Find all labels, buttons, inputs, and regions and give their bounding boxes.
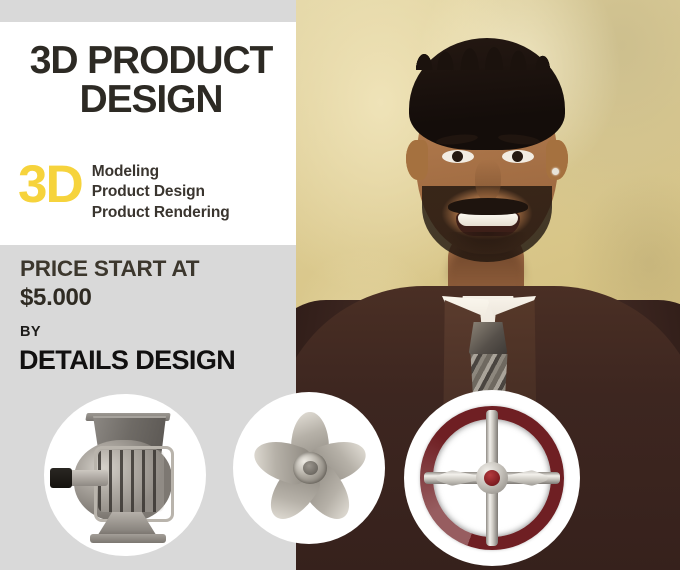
- valve-foot-flange: [90, 534, 166, 543]
- pupil-right: [512, 151, 523, 162]
- marine-propeller-icon: [247, 404, 371, 532]
- top-gray-bar: [0, 0, 296, 22]
- pupil-left: [452, 151, 463, 162]
- title-line-2: DESIGN: [8, 81, 294, 120]
- brand-name: DETAILS DESIGN: [19, 345, 235, 376]
- propeller-hub-bore: [303, 461, 318, 475]
- logo-3d: 3D: [18, 163, 82, 206]
- valve-motor-coupling: [50, 468, 72, 488]
- product-circle-propeller: [233, 392, 385, 544]
- gig-thumbnail-poster: 3D PRODUCT DESIGN 3D Modeling Product De…: [0, 0, 680, 570]
- service-item-product-design: Product Design: [92, 182, 230, 202]
- price-value: $5.000: [20, 284, 92, 312]
- eye-right: [502, 150, 534, 163]
- product-circle-rotary-valve: [44, 394, 206, 556]
- service-item-modeling: Modeling: [92, 162, 230, 182]
- eye-left: [442, 150, 474, 163]
- title-line-1: 3D PRODUCT: [8, 42, 294, 81]
- ship-steering-wheel-icon: [420, 406, 564, 550]
- necktie-knot: [468, 322, 508, 358]
- price-label: PRICE START AT: [20, 256, 199, 282]
- page-title: 3D PRODUCT DESIGN: [8, 42, 294, 119]
- services-list: Modeling Product Design Product Renderin…: [92, 160, 230, 223]
- hair-spikes: [412, 32, 564, 70]
- ear-left-front: [406, 140, 428, 180]
- services-block: 3D Modeling Product Design Product Rende…: [18, 160, 286, 223]
- by-label: BY: [20, 324, 41, 340]
- nose: [475, 160, 501, 202]
- earring: [552, 168, 559, 175]
- mustache: [448, 198, 528, 215]
- service-item-product-rendering: Product Rendering: [92, 203, 230, 223]
- chin-shadow: [446, 232, 528, 258]
- steering-wheel-hub-center: [484, 470, 500, 486]
- product-circle-steering-wheel: [404, 390, 580, 566]
- rotary-airlock-valve-icon: [44, 394, 206, 556]
